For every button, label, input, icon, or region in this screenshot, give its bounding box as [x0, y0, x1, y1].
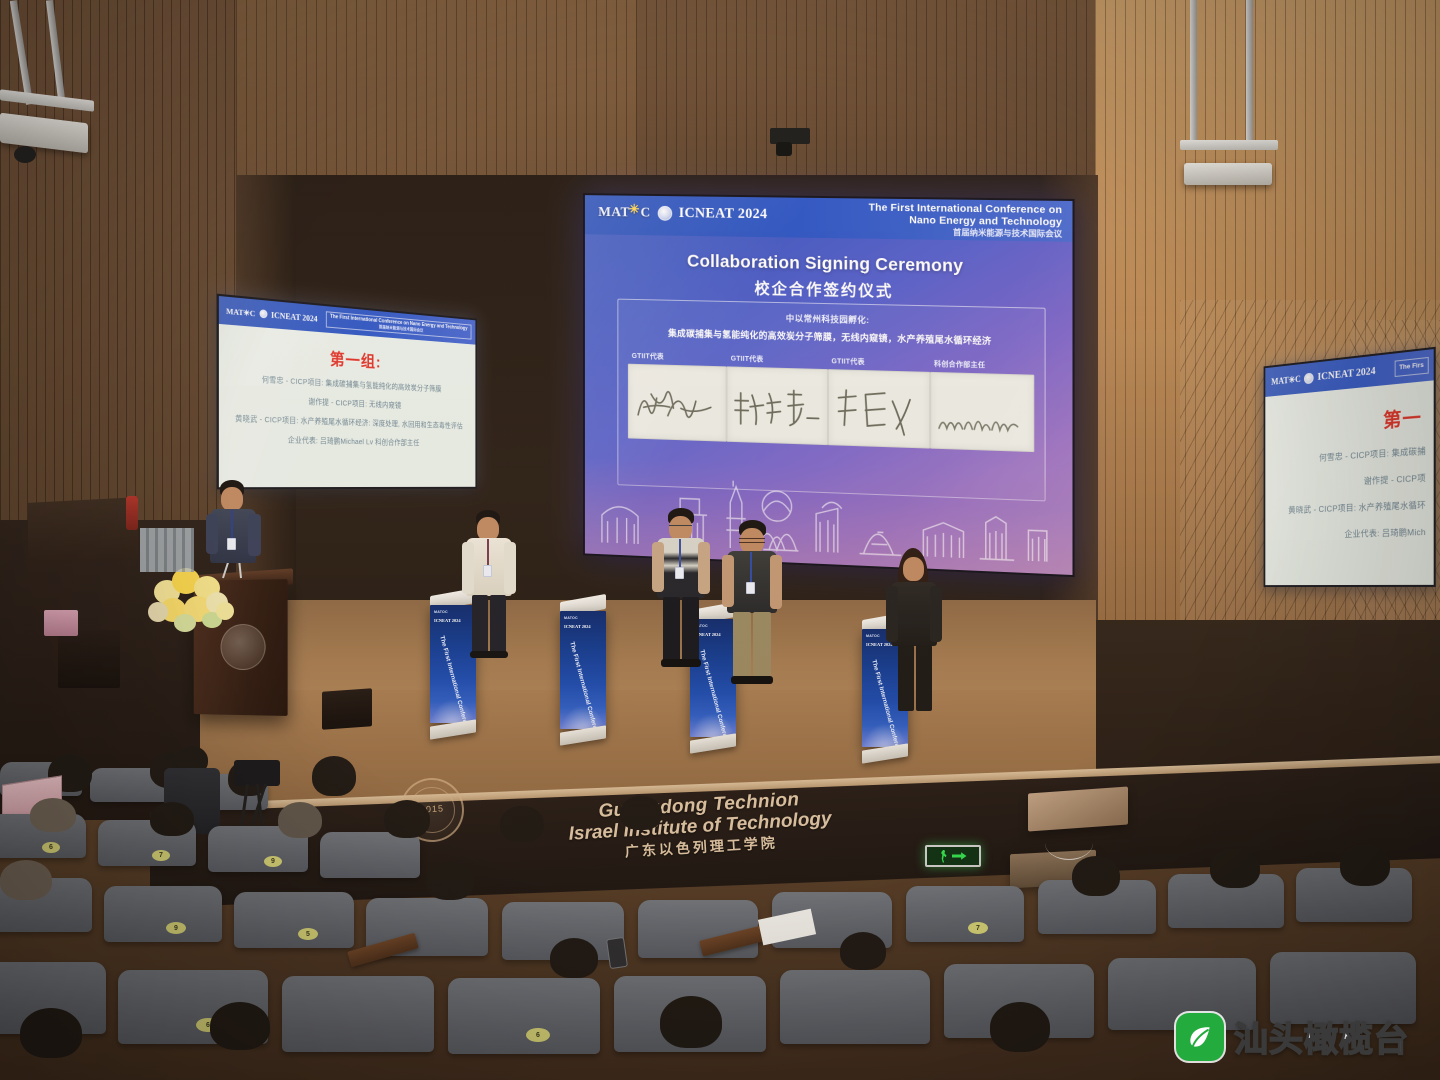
seat-back [104, 886, 222, 942]
signatory-3-lanyard [750, 552, 752, 584]
side-right-conference-box: The Firs [1394, 357, 1428, 376]
audience-head-20 [840, 932, 886, 970]
signature-3-ink [828, 370, 928, 447]
audience-head-14 [1210, 848, 1260, 888]
side-right-conf-en: The Firs [1399, 362, 1424, 372]
signatory-2-badge [675, 567, 684, 579]
matoc-logo-text-right: MAT✳C [1271, 373, 1301, 387]
signature-label-4: 科创合作部主任 [934, 359, 1034, 372]
water-bottles-crate [140, 528, 194, 572]
stage-speaker-cabinet-left [58, 630, 120, 688]
matoc-logo-text: MATC [598, 205, 650, 221]
signatory-person-3 [722, 520, 786, 688]
projector-pole-c [1190, 0, 1197, 140]
conference-name-cn: 首届纳米能源与技术国际会议 [869, 227, 1063, 239]
signatory-4-leg-right [916, 645, 932, 711]
leaf-logo-icon [1176, 1013, 1224, 1061]
lectern-1-logo: MATOC [434, 610, 448, 614]
seat-back [448, 978, 600, 1054]
audience-head-4 [312, 756, 356, 796]
projector-pole-d [1246, 0, 1253, 145]
lectern-2-logo2: ICNEAT 2024 [564, 624, 591, 629]
panel-heading-block: 中以常州科技园孵化: 集成碳捕集与氢能纯化的高效炭分子筛膜，无线内窥镜，水产养殖… [618, 308, 1044, 348]
signatory-2-lanyard [679, 539, 681, 569]
signatory-4-arm-right [930, 586, 942, 642]
signatory-1-lanyard [487, 539, 489, 567]
audience-head-12 [426, 862, 474, 900]
signatory-3-leg-right [753, 612, 771, 678]
video-camera-body [234, 760, 280, 786]
lectern-2-text: The First International Conference on Na… [567, 641, 599, 729]
side-right-line-2: 谢作提 - CICP项 [1272, 472, 1426, 492]
side-right-brand: MAT✳C ICNEAT 2024 [1265, 365, 1375, 388]
seat-back [282, 976, 434, 1052]
icneat-logo-text-right: ICNEAT 2024 [1318, 365, 1376, 382]
seat-back [320, 832, 420, 878]
audience-head-21 [550, 938, 598, 978]
side-right-line-4: 企业代表: 吕琦鹏Mich [1272, 526, 1426, 542]
signatory-1-arm-right [504, 542, 516, 594]
signatory-person-1 [462, 510, 520, 658]
side-left-line-3: 黄晓武 - CICP项目: 水产养殖尾水循环经济: 深度处理, 水回用和生态毒性… [227, 413, 469, 431]
seat-number-badge: 5 [298, 928, 318, 940]
projector-body-right [1184, 163, 1272, 185]
projector-pole-b [46, 0, 65, 100]
signatory-3-arm-left [722, 555, 734, 607]
audience-head-10 [620, 796, 662, 830]
icneat-logo-text: ICNEAT 2024 [679, 205, 768, 223]
audience-head-8 [384, 800, 430, 838]
seal-icon [657, 206, 671, 221]
phone-raised-2 [606, 937, 628, 969]
projector-body [0, 113, 88, 154]
audience-head-11 [0, 860, 52, 900]
signature-cell-4: 科创合作部主任 [930, 359, 1034, 452]
broadcaster-watermark: 汕头橄榄台 [1176, 1012, 1409, 1061]
signatory-2-shoes [661, 659, 701, 667]
stage-speaker-cabinet-left-2 [322, 688, 372, 729]
projector-mount-plate-right [1180, 140, 1278, 150]
side-left-brand: MAT✳C ICNEAT 2024 [219, 305, 318, 323]
podium-speaker-badge [227, 538, 236, 550]
audience-head-9 [500, 806, 544, 842]
signatory-2-leg-right [682, 597, 699, 661]
wood-slat-wall-middle [636, 0, 1096, 175]
signatory-1-shoes [470, 651, 508, 658]
star-icon [630, 206, 641, 217]
signature-box-3 [827, 369, 929, 448]
slide-title-block: Collaboration Signing Ceremony 校企合作签约仪式 [585, 249, 1073, 305]
seal-icon-right [1304, 372, 1314, 384]
slide-topbar: MATC ICNEAT 2024 The First International… [585, 195, 1073, 242]
audience-head-19 [990, 1002, 1050, 1052]
podium-speaker-head [221, 487, 243, 511]
seat-back [638, 900, 758, 958]
conference-name-block: The First International Conference on Na… [869, 203, 1063, 240]
signatory-1-arm-left [462, 542, 474, 594]
signature-cell-2: GTIIT代表 [727, 353, 828, 445]
signatory-1-leg-right [490, 595, 506, 653]
lectern-2-logo: MATOC [564, 616, 578, 620]
lectern-2-banner: MATOC ICNEAT 2024 The First Internationa… [560, 611, 606, 729]
audience-head-6 [150, 802, 194, 836]
conference-hall-photo: MATC ICNEAT 2024 The First International… [0, 0, 1440, 1080]
side-table-left [28, 497, 138, 565]
signature-cell-3: GTIIT代表 [827, 356, 929, 448]
signature-row: GTIIT代表 [628, 351, 1034, 452]
pink-box [44, 610, 78, 636]
audience-head-13 [1072, 856, 1120, 896]
matoc-logo-text-left: MAT✳C [226, 306, 255, 318]
side-left-line-4: 企业代表: 吕琦鹏Michael Lv 科创合作部主任 [227, 434, 469, 450]
audience-head-5 [30, 798, 76, 832]
side-left-line-2: 谢作提 - CICP项目: 无线内窥镜 [227, 393, 469, 414]
side-screen-right: MAT✳C ICNEAT 2024 The Firs 第一 何雪忠 - CICP… [1264, 347, 1436, 587]
seat-number-badge: 6 [526, 1028, 550, 1042]
signatory-4-arm-left [886, 586, 898, 642]
signature-label-2: GTIIT代表 [731, 354, 828, 367]
watermark-text: 汕头橄榄台 [1234, 1012, 1409, 1061]
seal-icon-left [259, 309, 267, 318]
seat-number-badge: 9 [264, 856, 282, 867]
signatory-3-leg-left [733, 612, 751, 678]
signature-label-1: GTIIT代表 [632, 351, 727, 363]
seat-number-badge: 7 [152, 850, 170, 861]
slide-brand-group: MATC ICNEAT 2024 [598, 204, 767, 223]
signing-lectern-2: MATOC ICNEAT 2024 The First Internationa… [560, 598, 606, 742]
ceiling-projector-right [1180, 0, 1310, 200]
signatory-3-arm-right [770, 555, 782, 609]
side-left-body: 第一组: 何雪忠 - CICP项目: 集成碳捕集与氢能纯化的高效炭分子筛膜 谢作… [219, 324, 475, 487]
side-right-line-3: 黄晓武 - CICP项目: 水产养殖尾水循环 [1272, 499, 1426, 517]
audience-head-18 [660, 996, 722, 1048]
signature-1-ink [629, 365, 726, 441]
signatory-1-badge [483, 565, 492, 577]
seat-back [780, 970, 930, 1044]
side-right-body: 第一 何雪忠 - CICP项目: 集成碳捕 谢作提 - CICP项 黄晓武 - … [1265, 380, 1433, 585]
signatory-person-2 [652, 508, 714, 670]
lectern-1-logo2: ICNEAT 2024 [434, 618, 461, 623]
side-screen-left: MAT✳C ICNEAT 2024 The First Internationa… [217, 294, 477, 490]
signatory-4-head [903, 557, 924, 581]
podium-speaker-arm-right [248, 514, 261, 556]
podium-speaker [206, 480, 266, 590]
audience-head-16 [20, 1008, 82, 1058]
signatory-4-leg-left [898, 645, 914, 711]
signature-box-2 [727, 366, 828, 445]
signature-label-3: GTIIT代表 [831, 356, 929, 369]
podium-speaker-lanyard [231, 510, 233, 540]
wood-slat-wall-top-middle [236, 0, 636, 190]
projector-lens [14, 146, 36, 163]
signature-box-1 [628, 364, 727, 442]
audience-head-17 [210, 1002, 270, 1050]
seat-number-badge: 6 [42, 842, 60, 853]
audience-head-15 [1340, 844, 1390, 886]
signatory-3-shoes [731, 676, 773, 684]
signatory-1-leg-left [472, 595, 488, 653]
signatory-2-arm-left [652, 542, 664, 592]
seat-number-badge: 9 [166, 922, 186, 934]
ceiling-projector-left [0, 0, 120, 175]
signature-4-ink [931, 373, 1033, 451]
icneat-logo-text-left: ICNEAT 2024 [271, 310, 317, 323]
side-left-line-1: 何雪忠 - CICP项目: 集成碳捕集与氢能纯化的高效炭分子筛膜 [227, 373, 469, 396]
signature-box-4 [930, 372, 1034, 452]
lectern-4-logo: MATOC [866, 634, 880, 638]
projector-mount-plate [0, 89, 94, 112]
side-left-group-title: 第一组: [227, 337, 469, 377]
audience-head-7 [278, 802, 322, 838]
signatory-person-4 [886, 548, 946, 718]
signatory-2-leg-left [663, 597, 680, 661]
projector-pole-a [10, 0, 33, 105]
signature-cell-1: GTIIT代表 [628, 351, 727, 442]
podium-speaker-arm-left [206, 514, 218, 554]
seat-number-badge: 7 [968, 922, 988, 934]
signatory-3-badge [746, 582, 755, 594]
signatory-2-arm-right [698, 542, 710, 594]
signatory-3-glasses [739, 538, 765, 543]
ceiling-camera [770, 128, 810, 158]
seat-back [906, 886, 1024, 942]
fire-extinguisher [126, 496, 138, 530]
signature-2-ink [728, 367, 827, 444]
side-right-group-title: 第一 [1272, 402, 1426, 442]
side-right-line-1: 何雪忠 - CICP项目: 集成碳捕 [1272, 445, 1426, 467]
seat-back [234, 892, 354, 948]
signatory-2-glasses [669, 525, 692, 529]
